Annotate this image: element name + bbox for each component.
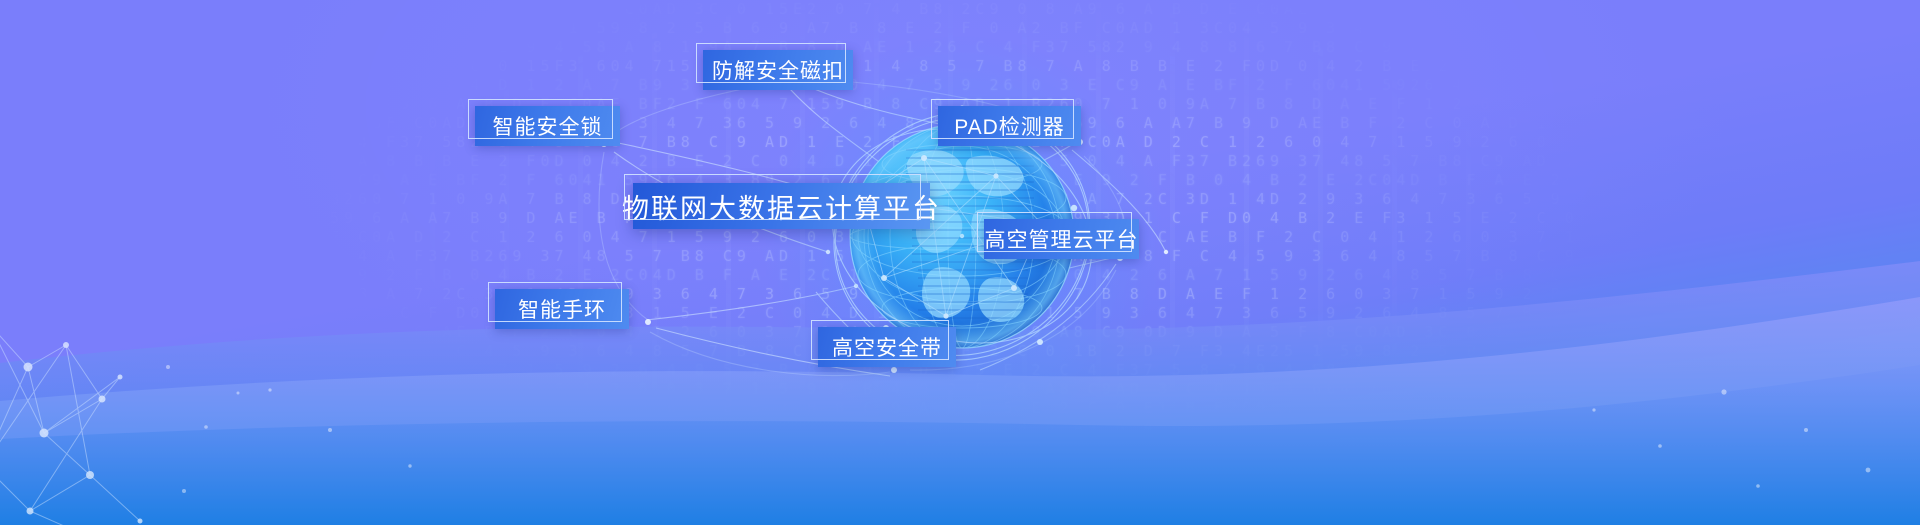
- aerial-safety-belt-label[interactable]: 高空安全带: [818, 327, 956, 367]
- anti-unlock-safety-buckle-label[interactable]: 防解安全磁扣: [703, 50, 853, 90]
- iot-bigdata-cloud-platform-label[interactable]: 物联网大数据云计算平台: [633, 183, 930, 229]
- iot-banner: A8 C9 0D 9 D A 5 F 8 C0AD 3C 0 15E2 0 7 …: [0, 0, 1920, 525]
- smart-safety-lock-label[interactable]: 智能安全锁: [475, 106, 620, 146]
- label-text: 物联网大数据云计算平台: [622, 187, 941, 226]
- label-text: 高空管理云平台: [985, 224, 1139, 254]
- pad-detector-label[interactable]: PAD检测器: [938, 106, 1081, 146]
- label-text: PAD检测器: [954, 111, 1065, 141]
- aerial-management-cloud-platform-label[interactable]: 高空管理云平台: [984, 219, 1139, 259]
- label-text: 智能手环: [518, 294, 606, 324]
- label-text: 防解安全磁扣: [712, 55, 844, 85]
- label-text: 高空安全带: [832, 332, 942, 362]
- label-text: 智能安全锁: [493, 111, 603, 141]
- smart-wristband-label[interactable]: 智能手环: [495, 289, 629, 329]
